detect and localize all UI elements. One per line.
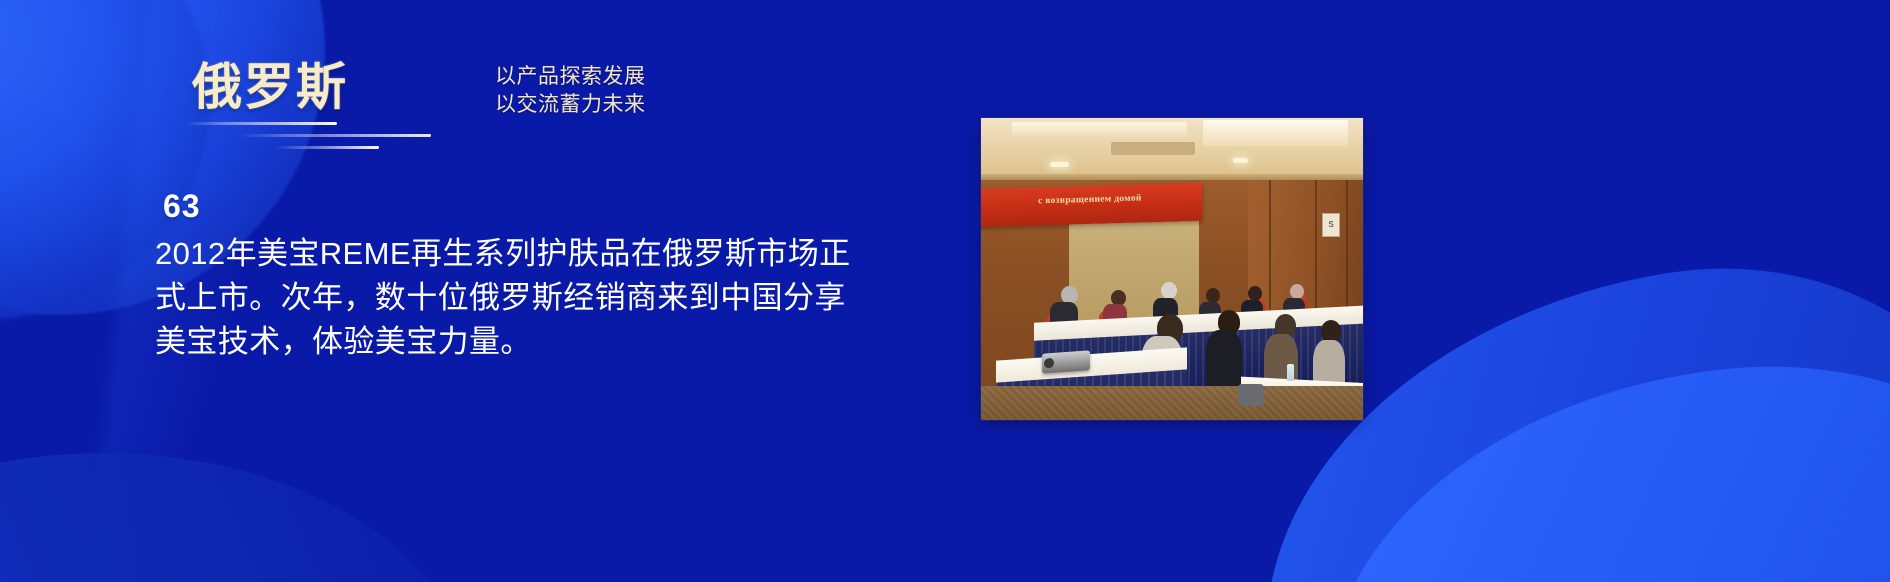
ceiling-vent [1111,142,1195,155]
ceiling-panel-left [1012,122,1188,140]
photo-scene: с возвращением домой S [981,118,1363,420]
projector-lens [1044,358,1054,369]
body-paragraph: 2012年美宝REME再生系列护肤品在俄罗斯市场正 式上市。次年，数十位俄罗斯经… [155,232,855,364]
paragraph-line-1: 2012年美宝REME再生系列护肤品在俄罗斯市场正 [155,232,855,276]
person-head [1321,320,1341,342]
tagline-line-1: 以产品探索发展 [495,63,646,91]
title-underline-stroke-1 [185,122,337,125]
ceiling-light-2 [1233,158,1248,163]
conference-photo: с возвращением домой S [981,118,1363,420]
person-body [1206,330,1242,390]
slide-tagline: 以产品探索发展 以交流蓄力未来 [495,63,646,120]
handbag [1238,384,1264,406]
person-head [1161,282,1177,299]
banner-text: с возвращением домой [983,192,1198,208]
page-title: 俄罗斯 [192,62,348,112]
title-underline-stroke-2 [239,134,431,137]
paragraph-line-2: 式上市。次年，数十位俄罗斯经销商来到中国分享 [155,276,855,320]
photo-ceiling [981,118,1363,182]
slide-header: 俄罗斯 以产品探索发展 以交流蓄力未来 [0,0,1890,180]
no-smoking-sign: S [1322,213,1340,237]
water-bottle [1287,364,1294,381]
item-number: 63 [163,190,875,222]
wall-panel-beige [1069,212,1199,324]
wave-shape-bottom-right-back [1272,422,1890,582]
wave-shape-bottom-left [0,404,506,582]
red-banner: с возвращением домой [981,183,1203,227]
title-underline-stroke-3 [275,146,379,149]
title-underline-group [185,122,515,156]
carpet-floor [981,386,1363,420]
wave-shape-bottom-right-front [1298,332,1890,582]
ceiling-light-1 [1050,162,1069,167]
ceiling-panel-right [1203,120,1348,146]
paragraph-line-3: 美宝技术，体验美宝力量。 [155,320,855,364]
presentation-slide: 俄罗斯 以产品探索发展 以交流蓄力未来 63 2012年美宝REME再生系列护肤… [0,0,1890,582]
slide-content: 63 2012年美宝REME再生系列护肤品在俄罗斯市场正 式上市。次年，数十位俄… [155,190,875,364]
tagline-line-2: 以交流蓄力未来 [495,91,646,119]
projector [1042,350,1090,373]
